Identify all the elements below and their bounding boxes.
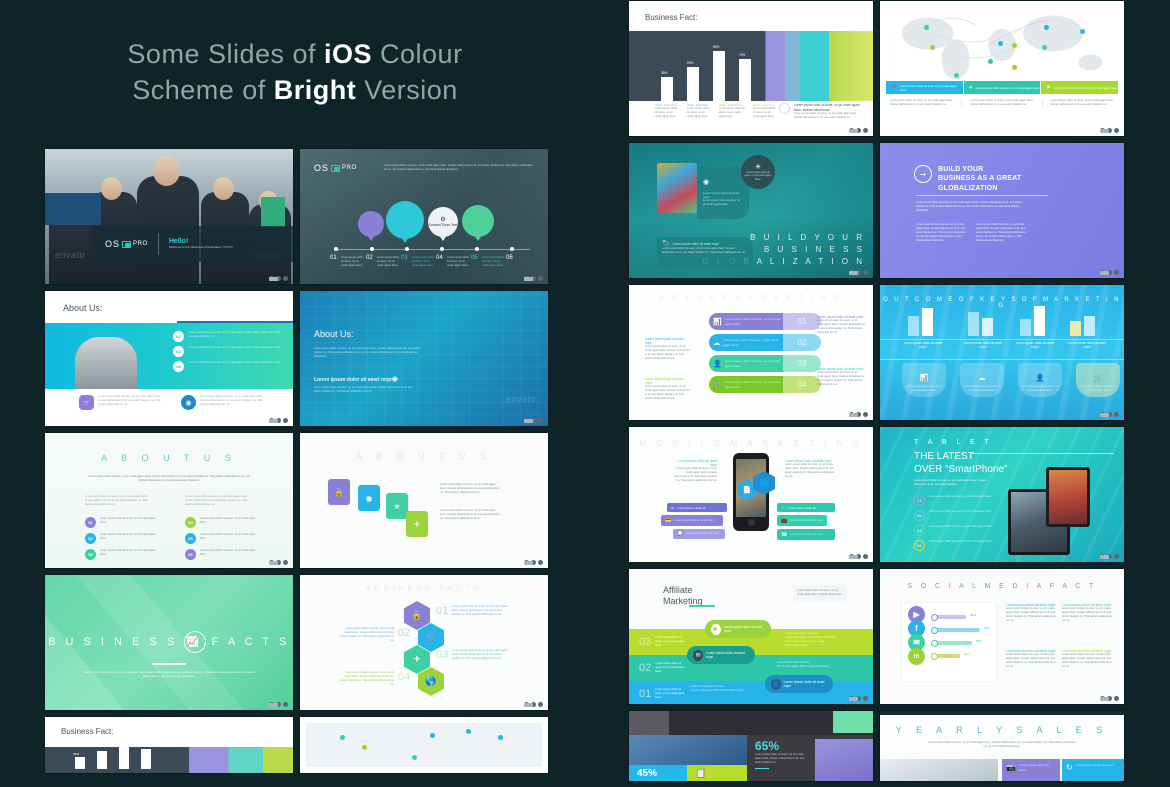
bar-value-3: 70% <box>739 53 745 57</box>
item-number: 05 <box>185 533 196 544</box>
timeline-step-1: 01 <box>330 255 337 261</box>
social-note-body: Lorem ipsum dolor sit amet, no pri mods … <box>1006 653 1056 669</box>
user-icon: 👤 <box>771 679 781 690</box>
slide-footer-controls[interactable] <box>849 128 868 133</box>
slide-keys-of-marketing[interactable]: K E Y S O F M A R K E T I N G 📊 Lorem ip… <box>628 284 874 421</box>
bar-2010 <box>661 77 673 101</box>
slide-row-4: B U S I N E S S 📈 F A C T S Lorem ipsum … <box>44 574 548 711</box>
home-button-icon <box>748 519 755 526</box>
social-bar-youtube[interactable]: 45% <box>932 615 966 619</box>
outcome-bar-1a <box>908 316 919 336</box>
chart-icon: 📊 <box>920 375 929 382</box>
panel-heading: Lorem ipsum dolor sit amet nopri <box>703 191 743 199</box>
panel-body: Lorem ipsum dolor sit amet, no pri mods … <box>703 199 743 207</box>
timeline-intro-text: Lorem ipsum dolor sit amet, no pri mods … <box>384 164 534 172</box>
slide-footer-controls[interactable] <box>849 696 868 701</box>
slide-footer-controls[interactable] <box>1100 696 1119 701</box>
map-note-1: Lorem ipsum dolor sit amet, no pri mods … <box>890 99 953 107</box>
outcome-card-2[interactable]: ☁ Lorem ipsum dolor sit amet, no pri mod… <box>960 363 1004 397</box>
hex-number-03: 03 <box>436 649 448 661</box>
slide-business-facts-mint[interactable]: B U S I N E S S 📈 F A C T S Lorem ipsum … <box>44 574 294 711</box>
divider <box>158 233 159 255</box>
card-text: Lorem ipsum dolor sit amet, no pri mods … <box>1079 385 1117 393</box>
slide-footer-controls[interactable] <box>1100 554 1119 559</box>
os-pro-logo: OS PRO <box>314 163 357 173</box>
slide-about-us-panels[interactable]: A B O U T U S 🔒 ◉ ★ ✈ Lorem ipsum dolor … <box>299 432 549 569</box>
timeline-pin-3[interactable]: ⚙ Content Three Text <box>428 207 458 237</box>
item-text: Lorem ipsum dolor sit amet, no pri mods … <box>188 346 283 350</box>
outcome-bar-1b <box>922 308 933 336</box>
social-bar-linkedin[interactable]: 32% <box>932 654 960 658</box>
tablet-item-02: 02 Lorem ipsum dolor sit amet, no pri mo… <box>914 510 999 521</box>
yearly-card-label: Lorem ipsum dolor sit amet <box>1076 763 1113 777</box>
item-text: Lorem ipsum dolor sit amet, no pri mods … <box>929 510 999 514</box>
affiliate-note: Lorem ipsum dolor sit amet, no pri mods … <box>793 585 847 601</box>
card-text: Lorem ipsum dolor sit amet, no pri mods … <box>1021 385 1059 393</box>
eye-icon: ◉ <box>703 179 709 186</box>
eye-icon[interactable]: ◉ <box>358 485 380 511</box>
mobile-item-label: Lorem ipsum dolor sit amet nopri <box>674 519 713 523</box>
band-bullet: Tantu partem dolor <box>785 644 855 648</box>
affiliate-tab-02[interactable]: ✉ Lorem ipsum dolor sit amet nopri <box>687 646 755 664</box>
map-bar-3[interactable]: ⚑ Lorem ipsum dolor sit amet no pri mods… <box>1041 81 1118 94</box>
item-text: Lorem ipsum dolor sit amet, no pri mods … <box>100 533 156 541</box>
slide-social-media-fact[interactable]: S O C I A L M E D I A F A C T ▶ f ✉ in 4… <box>879 568 1125 705</box>
stat-body: Lorem ipsum dolor sit amet, no pri mods … <box>755 753 807 765</box>
slide-about-us-light[interactable]: A B O U T U S Lorem ipsum dolor sit amet… <box>44 432 294 569</box>
slide-mobile-marketing[interactable]: M O B I L E M A R K E T I N G 📄 🌐 Lorem … <box>628 426 874 563</box>
row-number: 03 <box>783 355 821 372</box>
about-us-title: A B O U T U S <box>300 451 548 461</box>
title-line1-pre: Some Slides of <box>127 39 324 69</box>
slide-business-fact-chart-left[interactable]: Business Fact: 35% <box>44 716 294 774</box>
cart-icon: 🛒 <box>1094 375 1103 382</box>
star-icon[interactable]: ★ <box>386 493 408 519</box>
people-photo <box>75 337 137 389</box>
arrow-circle-icon: ➞ <box>914 165 932 183</box>
slide-row-1: envato envato OS PRO Hello! Welcome to t… <box>44 148 548 285</box>
band-bullet: No pri mods agam facer timeam abhorreant <box>777 665 851 669</box>
bar-note-2: Lorem ipsum dolor sit amet, no pri mods … <box>719 107 745 119</box>
bar-value-0: 35% <box>73 752 79 756</box>
cart-icon[interactable]: 🛒 <box>418 623 444 652</box>
photo-tile-purple <box>815 739 873 781</box>
play-icon: ► <box>711 624 721 635</box>
outcome-card-3[interactable]: 👤 Lorem ipsum dolor sit amet, no pri mod… <box>1018 363 1062 397</box>
slide-affiliate-marketing[interactable]: Affiliate Marketing Lorem ipsum dolor si… <box>628 568 874 705</box>
band-number: 03 <box>639 636 651 648</box>
map-legend-bars: 📍 Lorem ipsum dolor sit amet no pri mods… <box>886 81 1118 94</box>
title-line-1: Some Slides of iOS Colour <box>0 36 590 72</box>
slide-world-map[interactable]: 📍 Lorem ipsum dolor sit amet no pri mods… <box>879 0 1125 137</box>
about-us-intro: Lorem ipsum dolor sit amet, no pri mods … <box>85 475 253 483</box>
title-line2-highlight: Bright <box>274 75 356 105</box>
about-us-body-2: Lorem ipsum dolor sit amet, no pri mods … <box>314 386 420 394</box>
affiliate-tab-01[interactable]: 👤 Lorem ipsum dolor sit amet nopri <box>765 675 833 693</box>
outcome-bar-3a <box>1020 319 1031 336</box>
map-bar-1[interactable]: 📍 Lorem ipsum dolor sit amet no pri mods… <box>886 81 963 94</box>
business-fact-title: Business Fact: <box>61 727 113 736</box>
timeline-pin-label: Content One Text <box>358 223 384 231</box>
yearly-card-2[interactable]: ↻ Lorem ipsum dolor sit amet <box>1062 759 1124 781</box>
timeline-step-text: Lorem ipsum dolor sit amet, no pri mods … <box>377 256 401 268</box>
keys-row-03[interactable]: 👤 Lorem ipsum dolor sit amet, no pri mod… <box>709 355 821 372</box>
slide-footer-controls[interactable] <box>269 418 288 423</box>
slide-about-us-cyan[interactable]: About Us: 01 Lorem ipsum dolor sit amet,… <box>44 290 294 427</box>
slide-row-d: M O B I L E M A R K E T I N G 📄 🌐 Lorem … <box>628 426 1124 563</box>
column-head-left: Lorem ipsum dolor sit amet, no pri mods … <box>85 495 155 507</box>
tab-label: Lorem ipsum dolor sit amet nopri <box>724 625 765 633</box>
keys-title: K E Y S O F M A R K E T I N G <box>629 295 873 302</box>
slide-about-us-blue[interactable]: About Us: Lorem ipsum dolor sit amet, no… <box>299 290 549 427</box>
slide-row-3: A B O U T U S Lorem ipsum dolor sit amet… <box>44 432 548 569</box>
edit-icon: ✎ <box>402 214 408 222</box>
slide-yearly-sales[interactable]: Y E A R L Y S A L E S Lorem ipsum dolor … <box>879 710 1125 782</box>
mobile-item-number: 01 <box>671 506 674 510</box>
item-number: 01 <box>85 517 96 528</box>
about-us-item: 01 Lorem ipsum dolor sit amet, no pri mo… <box>85 517 156 528</box>
tablet-item-03: 03 Lorem ipsum dolor sit amet, no pri mo… <box>914 525 999 536</box>
slide-footer-controls[interactable] <box>849 412 868 417</box>
business-fact-title: Business Fact: <box>645 13 697 22</box>
row-label: Lorem ipsum dolor sit amet, no pri mods … <box>725 359 783 368</box>
about-us-body: Lorem ipsum dolor sit amet, no pri mods … <box>314 347 424 359</box>
photo-tile <box>880 759 998 781</box>
mobile-left-item-2[interactable]: 💳 Lorem ipsum dolor sit amet nopri <box>661 515 723 526</box>
about-us-title: About Us: <box>63 303 103 313</box>
slide-footer-controls[interactable] <box>1100 270 1119 275</box>
headline-line-2: BUSINESS AS A GREAT <box>938 174 1021 183</box>
copy-icon: 📋 <box>695 768 706 779</box>
chart-area: 35% 55% 85% 70% <box>629 31 873 101</box>
info-icon: ⓘ <box>368 216 373 223</box>
hex-note: Lorem ipsum dolor sit amet, no pri mods … <box>452 605 510 617</box>
mobile-title: M O B I L E M A R K E T I N G <box>629 439 873 448</box>
slide-hexagons[interactable]: BUSINESS FACTS 🔒 🛒 ✈ 🌎 01 02 03 04 Lorem… <box>299 574 549 711</box>
gear-icon: ⚙ <box>440 216 445 223</box>
world-map <box>306 723 542 767</box>
linkedin-icon[interactable]: in <box>908 648 925 665</box>
bar-2011 <box>687 67 699 101</box>
timeline-step-text: Lorem ipsum dolor sit amet, no pri mods … <box>482 256 506 268</box>
slide-footer-controls[interactable] <box>849 554 868 559</box>
business-facts-body: Lorem ipsum dolor sit amet, no pri mods … <box>83 671 255 679</box>
mobile-right-item-2[interactable]: 💼 Lorem ipsum dolor sit amet <box>777 515 827 526</box>
mobile-right-item-1[interactable]: ✓ Lorem ipsum dolor sit <box>777 503 835 512</box>
tag-icon: 🏷 <box>662 240 670 247</box>
business-facts-heading: B U S I N E S S 📈 F A C T S <box>45 631 293 653</box>
timeline-pin-4[interactable]: ⏻ Fourth Content <box>462 205 494 237</box>
tablet-headline: THE LATEST OVER “SmartPhone” <box>914 451 1007 476</box>
mobile-left-item-3[interactable]: 💬 Lorem ipsum dolor sit amet <box>673 529 725 539</box>
outcome-label-2: Lorem ipsum dolor sit amet nopri <box>962 341 1004 349</box>
item-number: 02 <box>173 346 184 357</box>
hex-note: Lorem ipsum dolor sit amet, no pri mods … <box>340 627 394 643</box>
business-facts-right-word: F A C T S <box>212 636 290 648</box>
timeline-step-5: 05 <box>471 255 478 261</box>
social-bar-twitter[interactable]: 55% <box>932 641 972 645</box>
outcome-bar-4b <box>1084 316 1095 336</box>
globe-icon[interactable]: 🌎 <box>418 667 444 696</box>
hex-number-01: 01 <box>436 605 448 617</box>
slide-grid-right: Business Fact: 35% 55% 85% 70% 2010 : Fa… <box>628 0 1124 787</box>
lock-icon[interactable]: 🔒 <box>328 479 350 505</box>
card-text: Lorem ipsum dolor sit amet, no pri mods … <box>905 385 943 393</box>
hex-number-04: 04 <box>398 671 410 683</box>
item-text: Lorem ipsum dolor sit amet, no pri mods … <box>100 517 156 525</box>
slide-footer-controls[interactable] <box>1100 412 1119 417</box>
item-text: Lorem ipsum dolor sit amet, no pri mods … <box>929 495 999 499</box>
mobile-note-body: Lorem ipsum dolor sit amet, no pri mods … <box>785 463 835 479</box>
social-panel: ▶ f ✉ in 45% 75% <box>902 603 996 681</box>
slide-tablet[interactable]: T A B L E T THE LATEST OVER “SmartPhone”… <box>879 426 1125 563</box>
about-us-title: A B O U T U S <box>45 453 293 463</box>
logo-square-icon <box>122 241 131 248</box>
item-number: 02 <box>85 533 96 544</box>
timeline-step-4: 04 <box>436 255 443 261</box>
social-value-linkedin: 32% <box>964 652 970 656</box>
side-note-body: Lorem ipsum dolor sit amet, no pri mods … <box>817 371 865 387</box>
chat-icon: 💬 <box>677 531 683 537</box>
cloud-icon: ☁ <box>713 339 720 347</box>
slide-footer-controls[interactable] <box>1100 128 1119 133</box>
timeline-pin-2[interactable]: ✎ Second Content Text <box>386 201 424 239</box>
panel-body: Lorem ipsum dolor sit amet, no pri mods … <box>662 247 748 255</box>
slide-row-2: About Us: 01 Lorem ipsum dolor sit amet,… <box>44 290 548 427</box>
slide-footer-controls[interactable] <box>269 276 288 281</box>
slide-globalization-teal[interactable]: ◉ Lorem ipsum dolor sit amet nopri Lorem… <box>628 142 874 279</box>
timeline-step-text: Lorem ipsum dolor sit amet, no pri mods … <box>341 256 365 268</box>
business-facts-left-word: B U S I N E S S <box>48 636 178 648</box>
about-us-item: 01 Lorem ipsum dolor sit amet, no pri mo… <box>173 331 283 342</box>
yearly-sales-title: Y E A R L Y S A L E S <box>880 725 1124 735</box>
chart-strip: 35% <box>45 747 293 773</box>
slide-business-fact-chart[interactable]: Business Fact: 35% 55% 85% 70% 2010 : Fa… <box>628 0 874 137</box>
hex-number-02: 02 <box>398 627 410 639</box>
item-number: 02 <box>914 510 925 521</box>
social-value-youtube: 45% <box>970 613 976 617</box>
hand-icon: ☞ <box>79 395 94 410</box>
timeline-axis <box>334 249 530 250</box>
band-number: 01 <box>639 688 651 700</box>
outcome-bar-2a <box>968 312 979 336</box>
affiliate-tab-03[interactable]: ► Lorem ipsum dolor sit amet nopri <box>705 620 771 638</box>
plane-icon[interactable]: ✈ <box>406 511 428 537</box>
mobile-item-label: Lorem ipsum dolor sit <box>677 506 706 510</box>
camera-icon: 📷 <box>1006 763 1016 777</box>
band-text: Lorem ipsum dolor sit amet, no pri mods … <box>655 662 685 674</box>
idea-icon: ☀ <box>755 163 761 171</box>
item-text: Lorem ipsum dolor sit amet, no pri mods … <box>188 361 283 365</box>
timeline-pin-1[interactable]: ⓘ Content One Text <box>358 211 384 237</box>
affiliate-band-02[interactable]: 02 Lorem ipsum dolor sit amet, no pri mo… <box>629 655 873 681</box>
slide-footer-controls[interactable] <box>849 270 868 275</box>
timeline-step-text: Lorem ipsum dolor sit amet, no pri mods … <box>447 256 471 268</box>
about-us-subtitle: Lorem ipsum dolor sit amet nopri <box>314 377 393 383</box>
badge-text: Lorem ipsum dolor sit amet, no pri mods … <box>743 171 773 182</box>
slide-row-5: Business Fact: 35% <box>44 716 548 774</box>
outcome-card-4[interactable]: 🛒 Lorem ipsum dolor sit amet, no pri mod… <box>1076 363 1120 397</box>
slide-footer-controls[interactable] <box>269 702 288 707</box>
briefcase-icon: 💼 <box>781 518 787 524</box>
item-text: Lorem ipsum dolor sit amet, no pri mods … <box>200 549 256 557</box>
social-bar-facebook[interactable]: 75% <box>932 628 980 632</box>
keys-row-02[interactable]: ☁ Lorem ipsum dolor sit amet, no pri mod… <box>709 334 821 351</box>
eye-icon: ◉ <box>392 375 398 383</box>
tablet-mockup-front <box>1046 467 1090 527</box>
slide-outcome[interactable]: O U T C O M E O F K E Y S O F M A R K E … <box>879 284 1125 421</box>
watermark: envato <box>506 394 536 404</box>
about-us-band: 01 Lorem ipsum dolor sit amet, no pri mo… <box>45 323 293 389</box>
timeline-step-6: 06 <box>506 255 513 261</box>
os-pro-logo: OS PRO <box>105 239 148 249</box>
outcome-card-1[interactable]: 📊 Lorem ipsum dolor sit amet, no pri mod… <box>902 363 946 397</box>
tablet-body: Lorem ipsum dolor sit amet, no pri mods … <box>914 479 1000 487</box>
slide-footer-controls[interactable] <box>524 418 543 423</box>
stat-tile-icon: 📋 <box>687 765 747 781</box>
lock-icon[interactable]: 🔒 <box>404 601 430 630</box>
band-number: 02 <box>639 662 651 674</box>
footer-note: Lorem ipsum dolor sit amet, no pri mods … <box>98 395 167 410</box>
chart-icon: 📊 <box>713 318 722 326</box>
stat-value-big: 65% <box>755 739 807 753</box>
affiliate-title: Affiliate Marketing <box>663 585 703 607</box>
title-line1-highlight: iOS <box>324 39 372 69</box>
slide-footer-controls[interactable] <box>524 560 543 565</box>
photo-thumb <box>657 163 697 213</box>
slide-row-b: ◉ Lorem ipsum dolor sit amet nopri Lorem… <box>628 142 1124 279</box>
social-note-body: Lorem ipsum dolor sit amet, no pri mods … <box>1062 607 1112 623</box>
card-icon: 💳 <box>665 518 671 524</box>
social-value-twitter: 55% <box>976 639 982 643</box>
map-bar-2[interactable]: ✈ Lorem ipsum dolor sit amet no pri mods… <box>964 81 1041 94</box>
item-number: 04 <box>185 517 196 528</box>
row-number: 04 <box>783 376 821 393</box>
headline-line-3: GLOBALIZATION <box>938 184 1021 193</box>
footer-note: Lorem ipsum dolor sit amet, no pri mods … <box>200 395 269 410</box>
accent-rect-blue <box>45 193 101 225</box>
slide-row-a: Business Fact: 35% 55% 85% 70% 2010 : Fa… <box>628 0 1124 137</box>
bar-value-0: 35% <box>661 71 667 75</box>
about-us-item: 02 Lorem ipsum dolor sit amet, no pri mo… <box>173 346 283 357</box>
row-number: 02 <box>783 334 821 351</box>
refresh-icon: ↻ <box>1066 763 1073 777</box>
slide-globalization-purple[interactable]: ➞ BUILD YOUR BUSINESS AS A GREAT GLOBALI… <box>879 142 1125 279</box>
about-us-item: 02 Lorem ipsum dolor sit amet, no pri mo… <box>85 533 156 544</box>
idea-badge[interactable]: ☀ Lorem ipsum dolor sit amet, no pri mod… <box>741 155 775 189</box>
outcome-label-1: Lorem ipsum dolor sit amet nopri <box>902 341 944 349</box>
outcome-bar-2b <box>982 318 993 336</box>
slide-cover-team[interactable]: envato envato OS PRO Hello! Welcome to t… <box>44 148 294 285</box>
slide-footer-controls[interactable] <box>524 276 543 281</box>
eye-icon: ◉ <box>181 395 196 410</box>
chart-note-body: Lorem ipsum dolor sit amet, no pri mods … <box>794 112 865 120</box>
slide-footer-controls[interactable] <box>524 702 543 707</box>
quote-icon <box>779 103 790 114</box>
bar-2013 <box>739 59 751 101</box>
timeline-step-text: Lorem ipsum dolor sit amet, no pri mods … <box>412 256 436 268</box>
row-label: Lorem ipsum dolor sit amet, no pri mods … <box>723 338 783 347</box>
timeline-pin-label: Content Three Text <box>429 223 458 227</box>
social-note-body: Lorem ipsum dolor sit amet, no pri mods … <box>1062 653 1112 669</box>
logo-os-text: OS <box>314 163 329 173</box>
timeline-pin-label: Fourth Content <box>466 222 489 226</box>
side-note-head: Lorem ipsum dolor sit amet nopri <box>645 377 691 385</box>
map-bar-label: Lorem ipsum dolor sit amet no pri mods a… <box>1054 86 1118 90</box>
map-note-2: Lorem ipsum dolor sit amet, no pri mods … <box>970 99 1033 107</box>
user-icon: 👤 <box>1036 375 1045 382</box>
outcome-bar-3b <box>1034 306 1045 336</box>
slide-timeline[interactable]: OS PRO Lorem ipsum dolor sit amet, no pr… <box>299 148 549 285</box>
stat-tile-small: 45% <box>629 765 687 781</box>
accent-rect-green <box>261 197 285 227</box>
yearly-card-1[interactable]: 📷 Lorem ipsum dolor sit amet <box>1002 759 1060 781</box>
outcome-label-4: Lorem ipsum dolor sit amet nopri <box>1066 341 1108 349</box>
side-note-body: Lorem ipsum dolor sit amet, no pri mods … <box>645 345 691 361</box>
panel-note: Lorem ipsum dolor sit amet, no pri mods … <box>440 483 502 495</box>
item-number: 01 <box>914 495 925 506</box>
row-label: Lorem ipsum dolor sit amet, no pri mods … <box>725 317 783 326</box>
affiliate-title-line-1: Affiliate <box>663 585 703 596</box>
cover-caption-band: OS PRO Hello! Welcome to the "Business P… <box>93 226 293 262</box>
mobile-right-item-3[interactable]: ☎ Lorem ipsum dolor sit amet <box>777 529 835 540</box>
outcome-title: O U T C O M E O F K E Y S O F M A R K E … <box>880 297 1124 309</box>
check-icon: ✓ <box>781 505 784 510</box>
keys-row-04[interactable]: 🛒 Lorem ipsum dolor sit amet, no pri mod… <box>709 376 821 393</box>
item-number: 03 <box>173 361 184 372</box>
keys-row-01[interactable]: 📊 Lorem ipsum dolor sit amet, no pri mod… <box>709 313 821 330</box>
panel-note: Lorem ipsum dolor sit amet, no pri mods … <box>440 509 502 521</box>
slide-footer-controls[interactable] <box>269 560 288 565</box>
mobile-note-body: Lorem ipsum dolor sit amet, no pri mods … <box>673 467 717 483</box>
mobile-left-item-1[interactable]: 01 Lorem ipsum dolor sit <box>667 503 727 512</box>
plane-icon[interactable]: ✈ <box>404 645 430 674</box>
slide-stats-tiles[interactable]: 45% 📋 65% Lorem ipsum dolor sit amet, no… <box>628 710 874 782</box>
item-number: 03 <box>85 549 96 560</box>
item-text: Lorem ipsum dolor sit amet, no pri mods … <box>200 533 256 541</box>
item-text: Lorem ipsum dolor sit amet, no pri mods … <box>188 331 283 339</box>
item-text: Lorem ipsum dolor sit amet, no pri mods … <box>929 540 999 544</box>
about-us-item: 03 Lorem ipsum dolor sit amet, no pri mo… <box>85 549 156 560</box>
outcome-bar-4a <box>1070 321 1081 336</box>
logo-pro-text: PRO <box>342 165 357 171</box>
purple-col-1: Lorem ipsum dolor sit amet, no pri mods … <box>916 223 966 242</box>
user-icon: 👤 <box>713 360 722 368</box>
yearly-card-label: Lorem ipsum dolor sit amet <box>1019 763 1056 777</box>
world-map <box>880 5 1124 85</box>
bar-note-0: Lorem ipsum dolor sit amet, no pri mods … <box>655 107 679 119</box>
side-note-body: Lorem ipsum dolor sit amet, no pri mods … <box>645 385 691 401</box>
band-bullet: No pri mods agam facer timeam abhorreant <box>691 689 757 693</box>
social-title: S O C I A L M E D I A F A C T <box>880 583 1124 590</box>
slide-world-map-left[interactable] <box>299 716 549 774</box>
teal-panel-2: 🏷 Lorem ipsum dolor sit amet nopri Lorem… <box>657 237 753 269</box>
cart-icon: 🛒 <box>713 381 722 389</box>
bar-2012 <box>713 51 725 101</box>
title-line2-pre: Scheme of <box>132 75 274 105</box>
timeline-step-2: 02 <box>366 255 373 261</box>
social-value-facebook: 75% <box>984 626 990 630</box>
row-number: 01 <box>783 313 821 330</box>
about-us-title: About Us: <box>314 329 354 339</box>
logo-os-text: OS <box>105 239 120 249</box>
mobile-item-label: Lorem ipsum dolor sit amet <box>686 532 719 536</box>
item-text: Lorem ipsum dolor sit amet, no pri mods … <box>200 517 256 525</box>
affiliate-band-01[interactable]: 01 Lorem ipsum dolor sit amet, no pri mo… <box>629 681 873 705</box>
page-title: Some Slides of iOS Colour Scheme of Brig… <box>0 36 590 108</box>
tablet-line-2: OVER “SmartPhone” <box>914 464 1007 477</box>
tablet-kicker: T A B L E T <box>914 439 993 446</box>
